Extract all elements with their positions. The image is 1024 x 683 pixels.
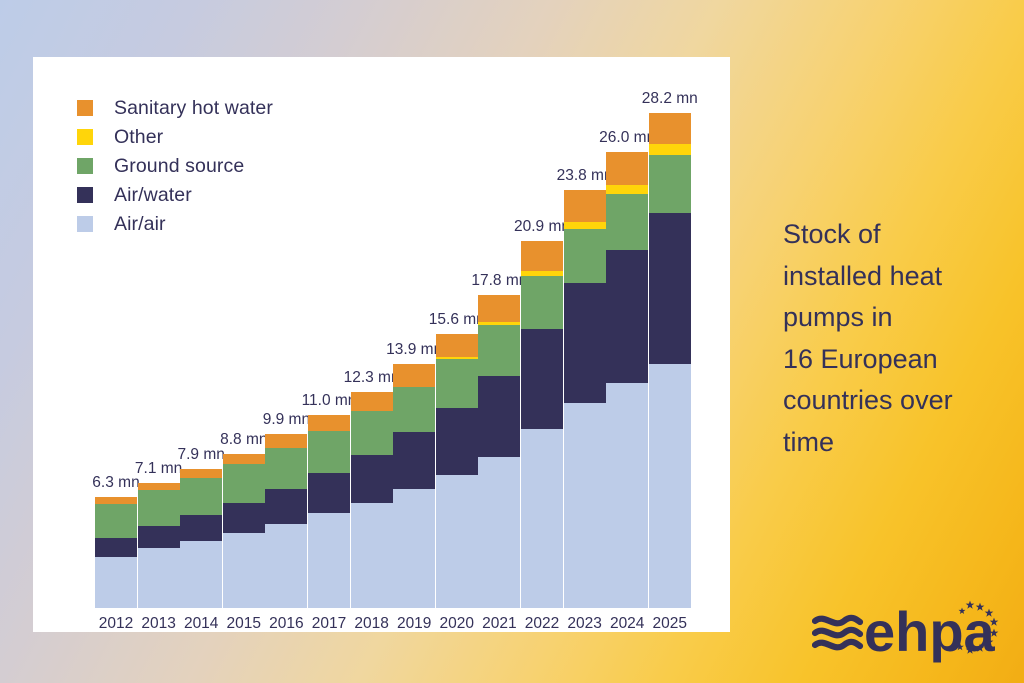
legend-item-other[interactable]: Other [77, 126, 273, 148]
bar-segment-air-air [223, 533, 265, 609]
bar-segment-other [606, 185, 648, 194]
legend-item-air-water[interactable]: Air/water [77, 184, 273, 206]
bar-segment-air-water [478, 376, 520, 457]
bar-value-label: 7.1 mn [135, 460, 182, 478]
bar-segment-other [649, 144, 691, 155]
x-axis-tick-label: 2024 [610, 615, 644, 633]
bar-value-label: 23.8 mn [557, 167, 613, 185]
bar-stack: 12.3 mn2018 [351, 392, 393, 608]
bar-column[interactable]: 6.3 mn2012 [95, 497, 137, 608]
bar-segment-sanitary-hot-water [351, 392, 393, 411]
bar-value-label: 17.8 mn [471, 272, 527, 290]
bar-column[interactable]: 20.9 mn2022 [521, 241, 563, 608]
legend-item-sanitary-hot-water[interactable]: Sanitary hot water [77, 97, 273, 119]
x-axis-tick-label: 2020 [440, 615, 474, 633]
bar-segment-ground-source [180, 478, 222, 515]
bar-value-label: 13.9 mn [386, 341, 442, 359]
bar-column[interactable]: 26.0 mn2024 [606, 152, 648, 609]
bar-segment-sanitary-hot-water [308, 415, 350, 431]
bar-segment-ground-source [265, 448, 307, 488]
bar-segment-air-air [393, 489, 435, 608]
page-title-line: Stock of [783, 214, 1011, 256]
bar-segment-air-air [265, 524, 307, 608]
bar-column[interactable]: 15.6 mn2020 [436, 334, 478, 608]
bar-stack: 23.8 mn2023 [564, 190, 606, 608]
bar-stack: 20.9 mn2022 [521, 241, 563, 608]
bar-stack: 8.8 mn2015 [223, 454, 265, 609]
legend-item-label: Sanitary hot water [114, 97, 273, 120]
bar-segment-air-air [351, 503, 393, 608]
bar-segment-air-water [436, 408, 478, 475]
bar-stack: 9.9 mn2016 [265, 434, 307, 608]
bar-segment-sanitary-hot-water [180, 469, 222, 478]
x-axis-tick-label: 2012 [99, 615, 133, 633]
ehpa-logo-svg: ehpa [812, 595, 1002, 667]
bar-segment-ground-source [95, 504, 137, 537]
wave-lines-icon [815, 618, 860, 647]
bar-stack: 6.3 mn2012 [95, 497, 137, 608]
bar-segment-air-water [351, 455, 393, 502]
bar-segment-air-water [649, 213, 691, 364]
legend-item-label: Air/water [114, 184, 192, 207]
bar-segment-air-water [393, 432, 435, 488]
bar-value-label: 26.0 mn [599, 129, 655, 147]
bar-segment-ground-source [223, 464, 265, 503]
bar-segment-ground-source [436, 359, 478, 408]
bar-column[interactable]: 9.9 mn2016 [265, 434, 307, 608]
page-title-line: time [783, 422, 1011, 464]
bar-segment-ground-source [478, 325, 520, 376]
bar-segment-ground-source [393, 387, 435, 433]
bar-segment-sanitary-hot-water [95, 497, 137, 504]
ehpa-logo: ehpa [812, 595, 1002, 667]
bar-value-label: 12.3 mn [344, 369, 400, 387]
bar-stack: 13.9 mn2019 [393, 364, 435, 608]
bar-segment-air-air [564, 403, 606, 608]
bar-segment-air-water [521, 329, 563, 429]
bar-value-label: 6.3 mn [92, 474, 139, 492]
x-axis-tick-label: 2017 [312, 615, 346, 633]
bar-segment-air-air [138, 548, 180, 608]
bar-value-label: 8.8 mn [220, 431, 267, 449]
bar-segment-air-air [436, 475, 478, 608]
bar-value-label: 9.9 mn [263, 411, 310, 429]
bar-segment-sanitary-hot-water [265, 434, 307, 448]
bar-value-label: 7.9 mn [177, 446, 224, 464]
legend-item-label: Other [114, 126, 163, 149]
x-axis-tick-label: 2019 [397, 615, 431, 633]
bar-stack: 11.0 mn2017 [308, 415, 350, 608]
bar-segment-sanitary-hot-water [223, 454, 265, 465]
bar-segment-sanitary-hot-water [436, 334, 478, 357]
bar-segment-ground-source [138, 490, 180, 525]
bar-segment-air-water [606, 250, 648, 383]
bar-segment-sanitary-hot-water [521, 241, 563, 271]
bar-segment-sanitary-hot-water [564, 190, 606, 222]
page-title: Stock ofinstalled heatpumps in16 Europea… [783, 214, 1011, 463]
bar-segment-other [564, 222, 606, 229]
legend-item-label: Air/air [114, 213, 166, 236]
page-title-line: pumps in [783, 297, 1011, 339]
chart-legend: Sanitary hot waterOtherGround sourceAir/… [77, 97, 273, 235]
x-axis-tick-label: 2016 [269, 615, 303, 633]
bar-value-label: 20.9 mn [514, 218, 570, 236]
bar-segment-air-air [180, 541, 222, 608]
bar-segment-air-air [649, 364, 691, 608]
x-axis-tick-label: 2023 [567, 615, 601, 633]
bar-segment-ground-source [351, 411, 393, 455]
bar-segment-sanitary-hot-water [649, 113, 691, 145]
x-axis-tick-label: 2014 [184, 615, 218, 633]
bar-segment-air-water [180, 515, 222, 541]
bar-column[interactable]: 17.8 mn2021 [478, 295, 520, 608]
bar-segment-sanitary-hot-water [138, 483, 180, 490]
bar-column[interactable]: 12.3 mn2018 [351, 392, 393, 608]
page-title-line: countries over [783, 380, 1011, 422]
bar-column[interactable]: 23.8 mn2023 [564, 190, 606, 608]
bar-stack: 7.9 mn2014 [180, 469, 222, 608]
bar-segment-air-water [564, 283, 606, 402]
bar-column[interactable]: 7.9 mn2014 [180, 469, 222, 608]
legend-swatch-icon [77, 158, 93, 174]
bar-column[interactable]: 8.8 mn2015 [223, 454, 265, 609]
bar-segment-ground-source [521, 276, 563, 329]
bar-segment-sanitary-hot-water [393, 364, 435, 387]
bar-column[interactable]: 11.0 mn2017 [308, 415, 350, 608]
bar-segment-ground-source [649, 155, 691, 213]
x-axis-tick-label: 2022 [525, 615, 559, 633]
bar-stack: 17.8 mn2021 [478, 295, 520, 608]
bar-segment-ground-source [606, 194, 648, 250]
legend-swatch-icon [77, 129, 93, 145]
legend-swatch-icon [77, 216, 93, 232]
bar-segment-air-water [308, 473, 350, 513]
bar-column[interactable]: 28.2 mn2025 [649, 113, 691, 608]
legend-item-ground-source[interactable]: Ground source [77, 155, 273, 177]
bar-segment-air-water [223, 503, 265, 533]
legend-item-air-air[interactable]: Air/air [77, 213, 273, 235]
bar-stack: 26.0 mn2024 [606, 152, 648, 609]
legend-swatch-icon [77, 100, 93, 116]
page-title-line: 16 European [783, 339, 1011, 381]
x-axis-tick-label: 2021 [482, 615, 516, 633]
bar-stack: 28.2 mn2025 [649, 113, 691, 608]
bar-segment-air-air [308, 513, 350, 608]
bar-segment-ground-source [308, 431, 350, 473]
bar-segment-air-air [521, 429, 563, 608]
bar-segment-air-air [606, 383, 648, 608]
legend-item-label: Ground source [114, 155, 244, 178]
x-axis-tick-label: 2013 [141, 615, 175, 633]
ehpa-wordmark: ehpa [864, 600, 996, 663]
bar-segment-air-air [95, 557, 137, 608]
legend-swatch-icon [77, 187, 93, 203]
bar-segment-air-water [138, 526, 180, 549]
bar-column[interactable]: 7.1 mn2013 [138, 483, 180, 608]
x-axis-tick-label: 2018 [354, 615, 388, 633]
bar-value-label: 11.0 mn [302, 392, 357, 410]
bar-value-label: 28.2 mn [642, 90, 698, 108]
bar-segment-air-air [478, 457, 520, 608]
bar-segment-sanitary-hot-water [478, 295, 520, 321]
bar-value-label: 15.6 mn [429, 311, 485, 329]
bar-segment-air-water [95, 538, 137, 557]
bar-stack: 7.1 mn2013 [138, 483, 180, 608]
page-title-line: installed heat [783, 256, 1011, 298]
chart-panel: 6.3 mn20127.1 mn20137.9 mn20148.8 mn2015… [33, 57, 730, 632]
x-axis-tick-label: 2025 [653, 615, 687, 633]
bar-stack: 15.6 mn2020 [436, 334, 478, 608]
bar-column[interactable]: 13.9 mn2019 [393, 364, 435, 608]
x-axis-tick-label: 2015 [227, 615, 261, 633]
bar-segment-ground-source [564, 229, 606, 283]
bar-segment-air-water [265, 489, 307, 524]
bar-segment-sanitary-hot-water [606, 152, 648, 185]
